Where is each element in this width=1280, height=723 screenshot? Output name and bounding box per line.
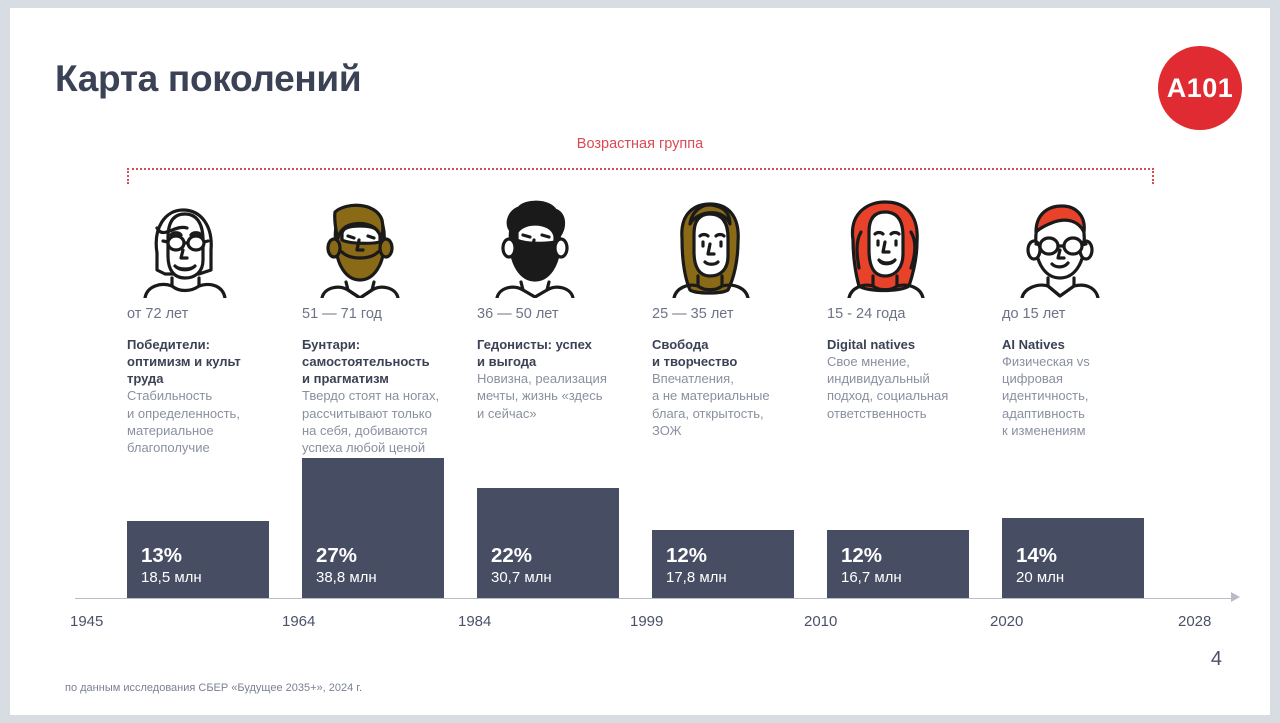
- red-haired-boy-glasses-avatar: [1002, 198, 1155, 298]
- bar-count-label: 20 млн: [1016, 569, 1130, 586]
- year-tick: 1964: [282, 613, 315, 630]
- generation-column: от 72 лет Победители: оптимизм и культ т…: [127, 198, 302, 456]
- bar-wrapper: 12% 17,8 млн: [652, 530, 827, 598]
- bars-container: 13% 18,5 млн 27% 38,8 млн 22% 30,7 млн 1…: [127, 438, 1177, 598]
- source-note: по данным исследования СБЕР «Будущее 203…: [65, 682, 362, 694]
- year-tick: 2028: [1178, 613, 1211, 630]
- bar-percent-label: 27%: [316, 544, 430, 568]
- bar-wrapper: 22% 30,7 млн: [477, 488, 652, 598]
- age-range: 51 — 71 год: [302, 306, 455, 322]
- bar-percent-label: 12%: [666, 544, 780, 568]
- logo-text: A101: [1167, 73, 1234, 104]
- generation-column: до 15 лет AI Natives Физическая vs цифро…: [1002, 198, 1177, 456]
- bar-wrapper: 13% 18,5 млн: [127, 521, 302, 598]
- year-tick: 2010: [804, 613, 837, 630]
- age-range: до 15 лет: [1002, 306, 1155, 322]
- timeline-axis: [75, 598, 1237, 599]
- bar: 22% 30,7 млн: [477, 488, 619, 598]
- bracket-right-tick: [1152, 168, 1154, 184]
- generation-description: Новизна, реализация мечты, жизнь «здесь …: [477, 370, 630, 421]
- generation-headline: Бунтари: самостоятельность и прагматизм: [302, 336, 455, 387]
- bar-percent-label: 12%: [841, 544, 955, 568]
- bar-wrapper: 14% 20 млн: [1002, 518, 1177, 598]
- bracket-left-tick: [127, 168, 129, 184]
- generation-headline: Свобода и творчество: [652, 336, 805, 370]
- a101-logo: A101: [1158, 46, 1242, 130]
- age-group-bracket: [127, 168, 1154, 184]
- bearded-man-avatar: [302, 198, 455, 298]
- bar-count-label: 18,5 млн: [141, 569, 255, 586]
- generation-column: 51 — 71 год Бунтари: самостоятельность и…: [302, 198, 477, 456]
- generation-column: 25 — 35 лет Свобода и творчество Впечатл…: [652, 198, 827, 456]
- generation-description: Физическая vs цифровая идентичность, ада…: [1002, 353, 1155, 439]
- generation-headline: Digital natives: [827, 336, 980, 353]
- page-number: 4: [1211, 648, 1222, 671]
- bar-count-label: 38,8 млн: [316, 569, 430, 586]
- bar: 13% 18,5 млн: [127, 521, 269, 598]
- year-tick: 1984: [458, 613, 491, 630]
- bar-count-label: 30,7 млн: [491, 569, 605, 586]
- red-curly-haired-woman-avatar: [827, 198, 980, 298]
- elderly-woman-glasses-avatar: [127, 198, 280, 298]
- bar-wrapper: 12% 16,7 млн: [827, 530, 1002, 598]
- bar: 12% 16,7 млн: [827, 530, 969, 598]
- generation-description: Впечатления, а не материальные блага, от…: [652, 370, 805, 439]
- slide: Карта поколений A101 Возрастная группа: [10, 8, 1270, 715]
- age-range: 36 — 50 лет: [477, 306, 630, 322]
- generation-columns: от 72 лет Победители: оптимизм и культ т…: [127, 198, 1177, 456]
- generation-headline: Победители: оптимизм и культ труда: [127, 336, 280, 387]
- bar: 14% 20 млн: [1002, 518, 1144, 598]
- generation-column: 36 — 50 лет Гедонисты: успех и выгода Но…: [477, 198, 652, 456]
- bracket-line: [127, 168, 1154, 170]
- long-haired-woman-avatar: [652, 198, 805, 298]
- year-tick: 1999: [630, 613, 663, 630]
- year-tick: 2020: [990, 613, 1023, 630]
- generation-bar-chart: 13% 18,5 млн 27% 38,8 млн 22% 30,7 млн 1…: [127, 438, 1237, 598]
- age-range: 15 - 24 года: [827, 306, 980, 322]
- timeline-arrow-icon: [1231, 592, 1240, 602]
- bar-percent-label: 14%: [1016, 544, 1130, 568]
- year-tick: 1945: [70, 613, 103, 630]
- page-title: Карта поколений: [55, 58, 361, 100]
- generation-column: 15 - 24 года Digital natives Свое мнение…: [827, 198, 1002, 456]
- bar: 12% 17,8 млн: [652, 530, 794, 598]
- bar-count-label: 17,8 млн: [666, 569, 780, 586]
- generation-headline: AI Natives: [1002, 336, 1155, 353]
- generation-description: Свое мнение, индивидуальный подход, соци…: [827, 353, 980, 422]
- age-range: от 72 лет: [127, 306, 280, 322]
- age-group-label: Возрастная группа: [10, 136, 1270, 152]
- generation-headline: Гедонисты: успех и выгода: [477, 336, 630, 370]
- bar-percent-label: 22%: [491, 544, 605, 568]
- bar-percent-label: 13%: [141, 544, 255, 568]
- age-range: 25 — 35 лет: [652, 306, 805, 322]
- bar-count-label: 16,7 млн: [841, 569, 955, 586]
- timeline-year-labels: 1945 1964 1984 1999 2010 2020 2028: [10, 613, 1270, 635]
- bar-wrapper: 27% 38,8 млн: [302, 458, 477, 598]
- curly-dark-haired-man-avatar: [477, 198, 630, 298]
- bar: 27% 38,8 млн: [302, 458, 444, 598]
